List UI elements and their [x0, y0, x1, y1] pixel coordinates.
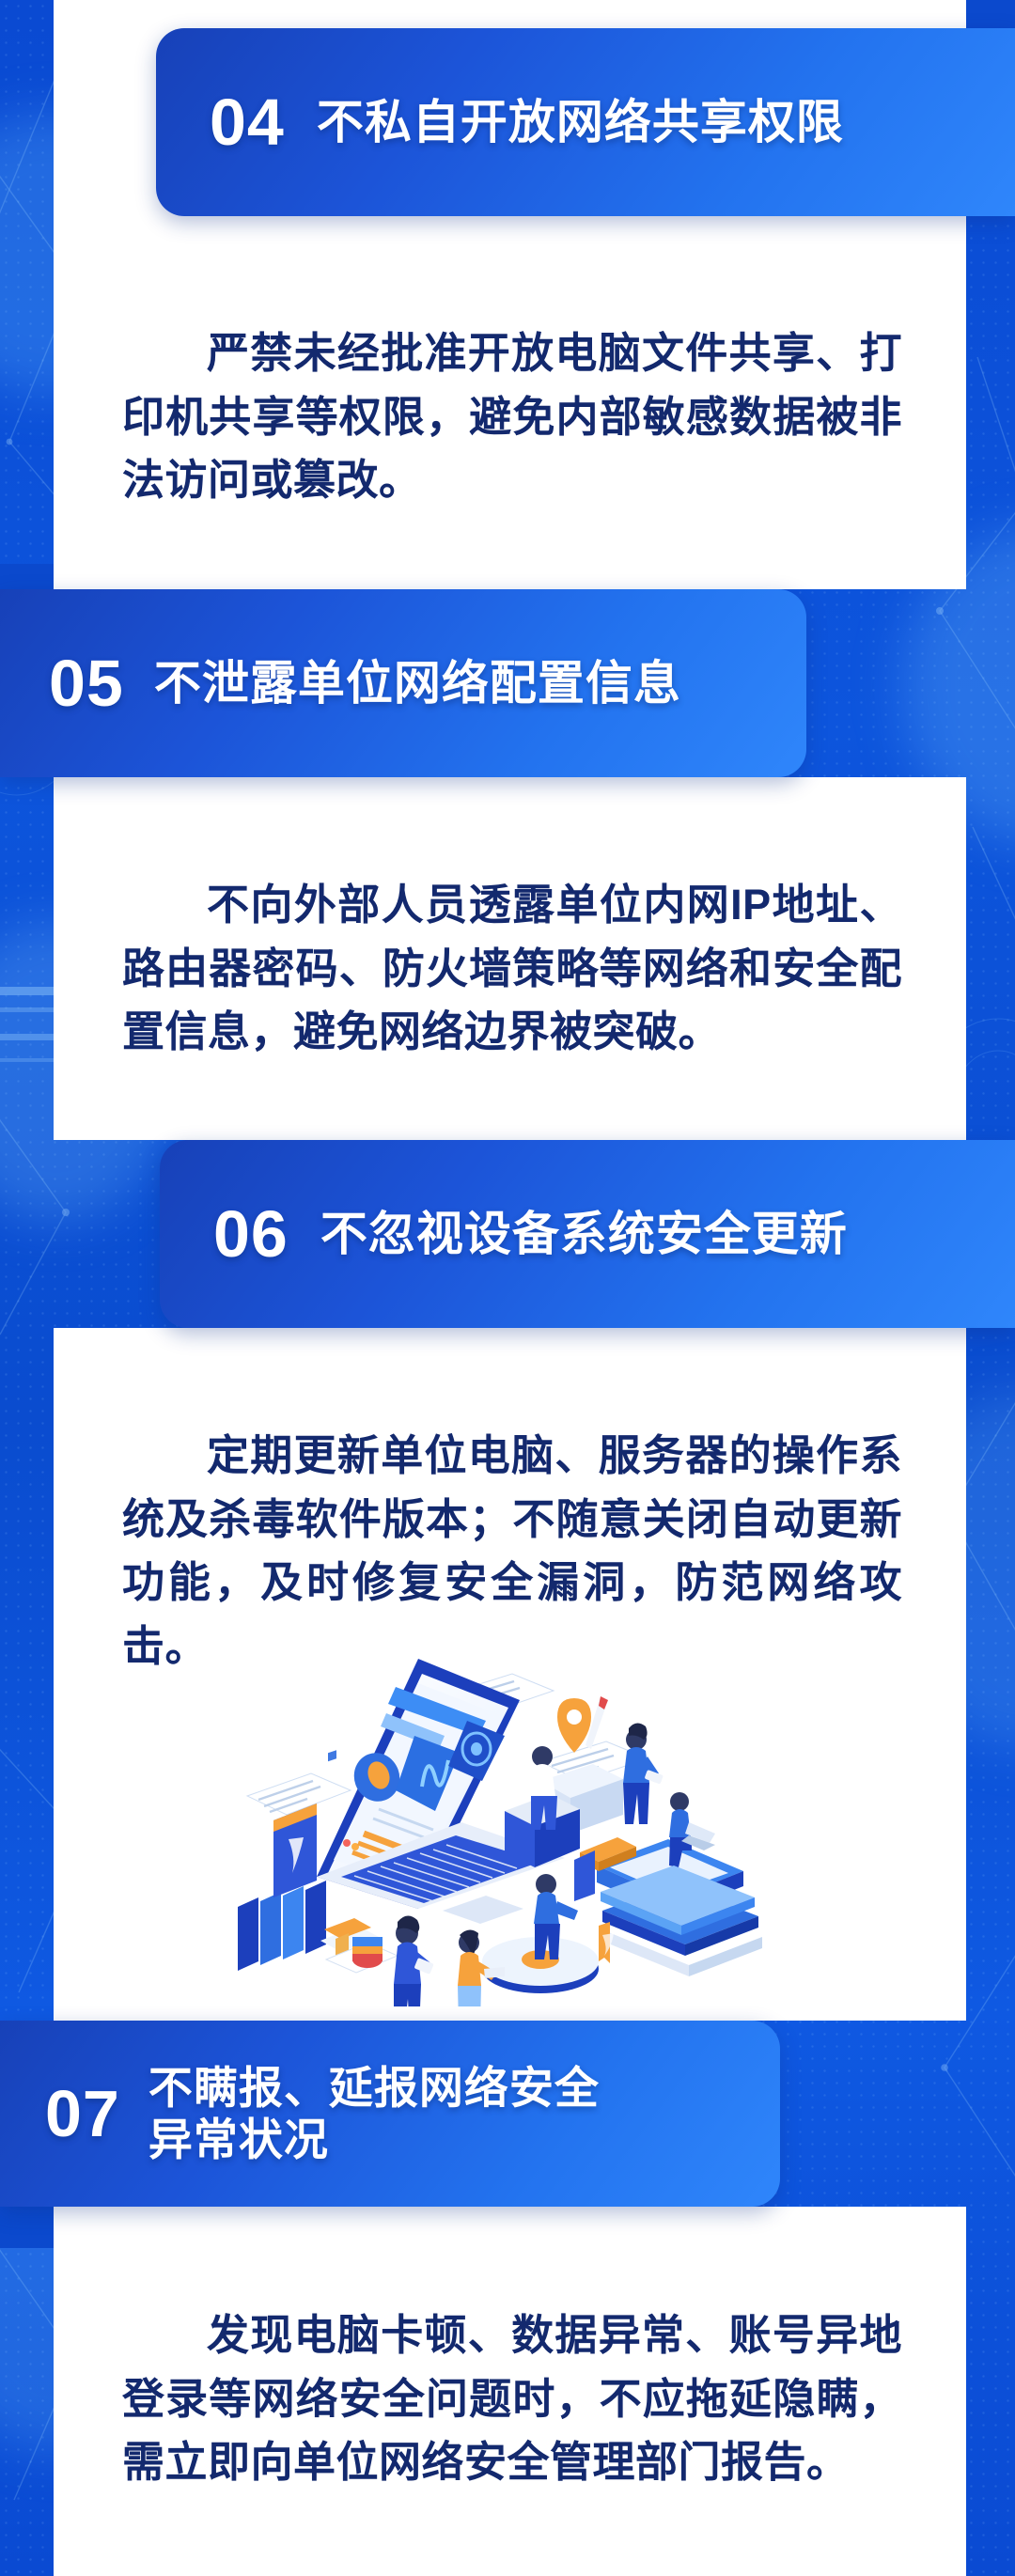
- isometric-workspace-illustration: [230, 1659, 945, 2006]
- section-title-07: 不瞒报、延报网络安全 异常状况: [148, 2062, 600, 2166]
- decorative-bookmark: [599, 1922, 614, 1963]
- person-front-middle: [458, 1929, 505, 2006]
- corner-notch-07: [0, 2207, 54, 2248]
- person-front-left: [389, 1915, 434, 2006]
- section-body-07: 发现电脑卡顿、数据异常、账号异地登录等网络安全问题时，不应拖延隐瞒，需立即向单位…: [122, 2303, 902, 2494]
- section-body-04: 严禁未经批准开放电脑文件共享、打印机共享等权限，避免内部敏感数据被非法访问或篡改…: [122, 321, 902, 512]
- section-header-card-06[interactable]: 06 不忽视设备系统安全更新: [160, 1140, 1015, 1328]
- section-body-06: 定期更新单位电脑、服务器的操作系统及杀毒软件版本；不随意关闭自动更新功能，及时修…: [122, 1424, 902, 1678]
- section-title-05: 不泄露单位网络配置信息: [154, 656, 681, 710]
- section-header-card-07[interactable]: 07 不瞒报、延报网络安全 异常状况: [0, 2021, 780, 2207]
- person-standing-woman: [623, 1723, 664, 1824]
- illustration-svg: [230, 1659, 945, 2006]
- section-title-07-line-1: 不瞒报、延报网络安全: [148, 2063, 600, 2113]
- section-header-card-05[interactable]: 05 不泄露单位网络配置信息: [0, 589, 806, 777]
- corner-notch-05: [0, 564, 54, 589]
- desk-lamp: [320, 1918, 398, 1973]
- section-number-06: 06: [213, 1201, 289, 1267]
- section-header-card-04[interactable]: 04 不私自开放网络共享权限: [156, 28, 1015, 216]
- section-number-07: 07: [45, 2081, 120, 2147]
- floating-document-left: [247, 1750, 351, 1815]
- section-title-06: 不忽视设备系统安全更新: [320, 1207, 848, 1261]
- section-number-04: 04: [210, 89, 285, 155]
- section-body-05: 不向外部人员透露单位内网IP地址、路由器密码、防火墙策略等网络和安全配置信息，避…: [122, 873, 902, 1064]
- corner-notch-top-right: [966, 0, 1015, 28]
- section-number-05: 05: [49, 650, 124, 716]
- notebook-upright: [273, 1803, 317, 1897]
- section-title-04: 不私自开放网络共享权限: [317, 95, 844, 149]
- infographic-poster: 04 不私自开放网络共享权限 严禁未经批准开放电脑文件共享、打印机共享等权限，避…: [0, 0, 1015, 2576]
- section-title-07-line-2: 异常状况: [148, 2115, 329, 2164]
